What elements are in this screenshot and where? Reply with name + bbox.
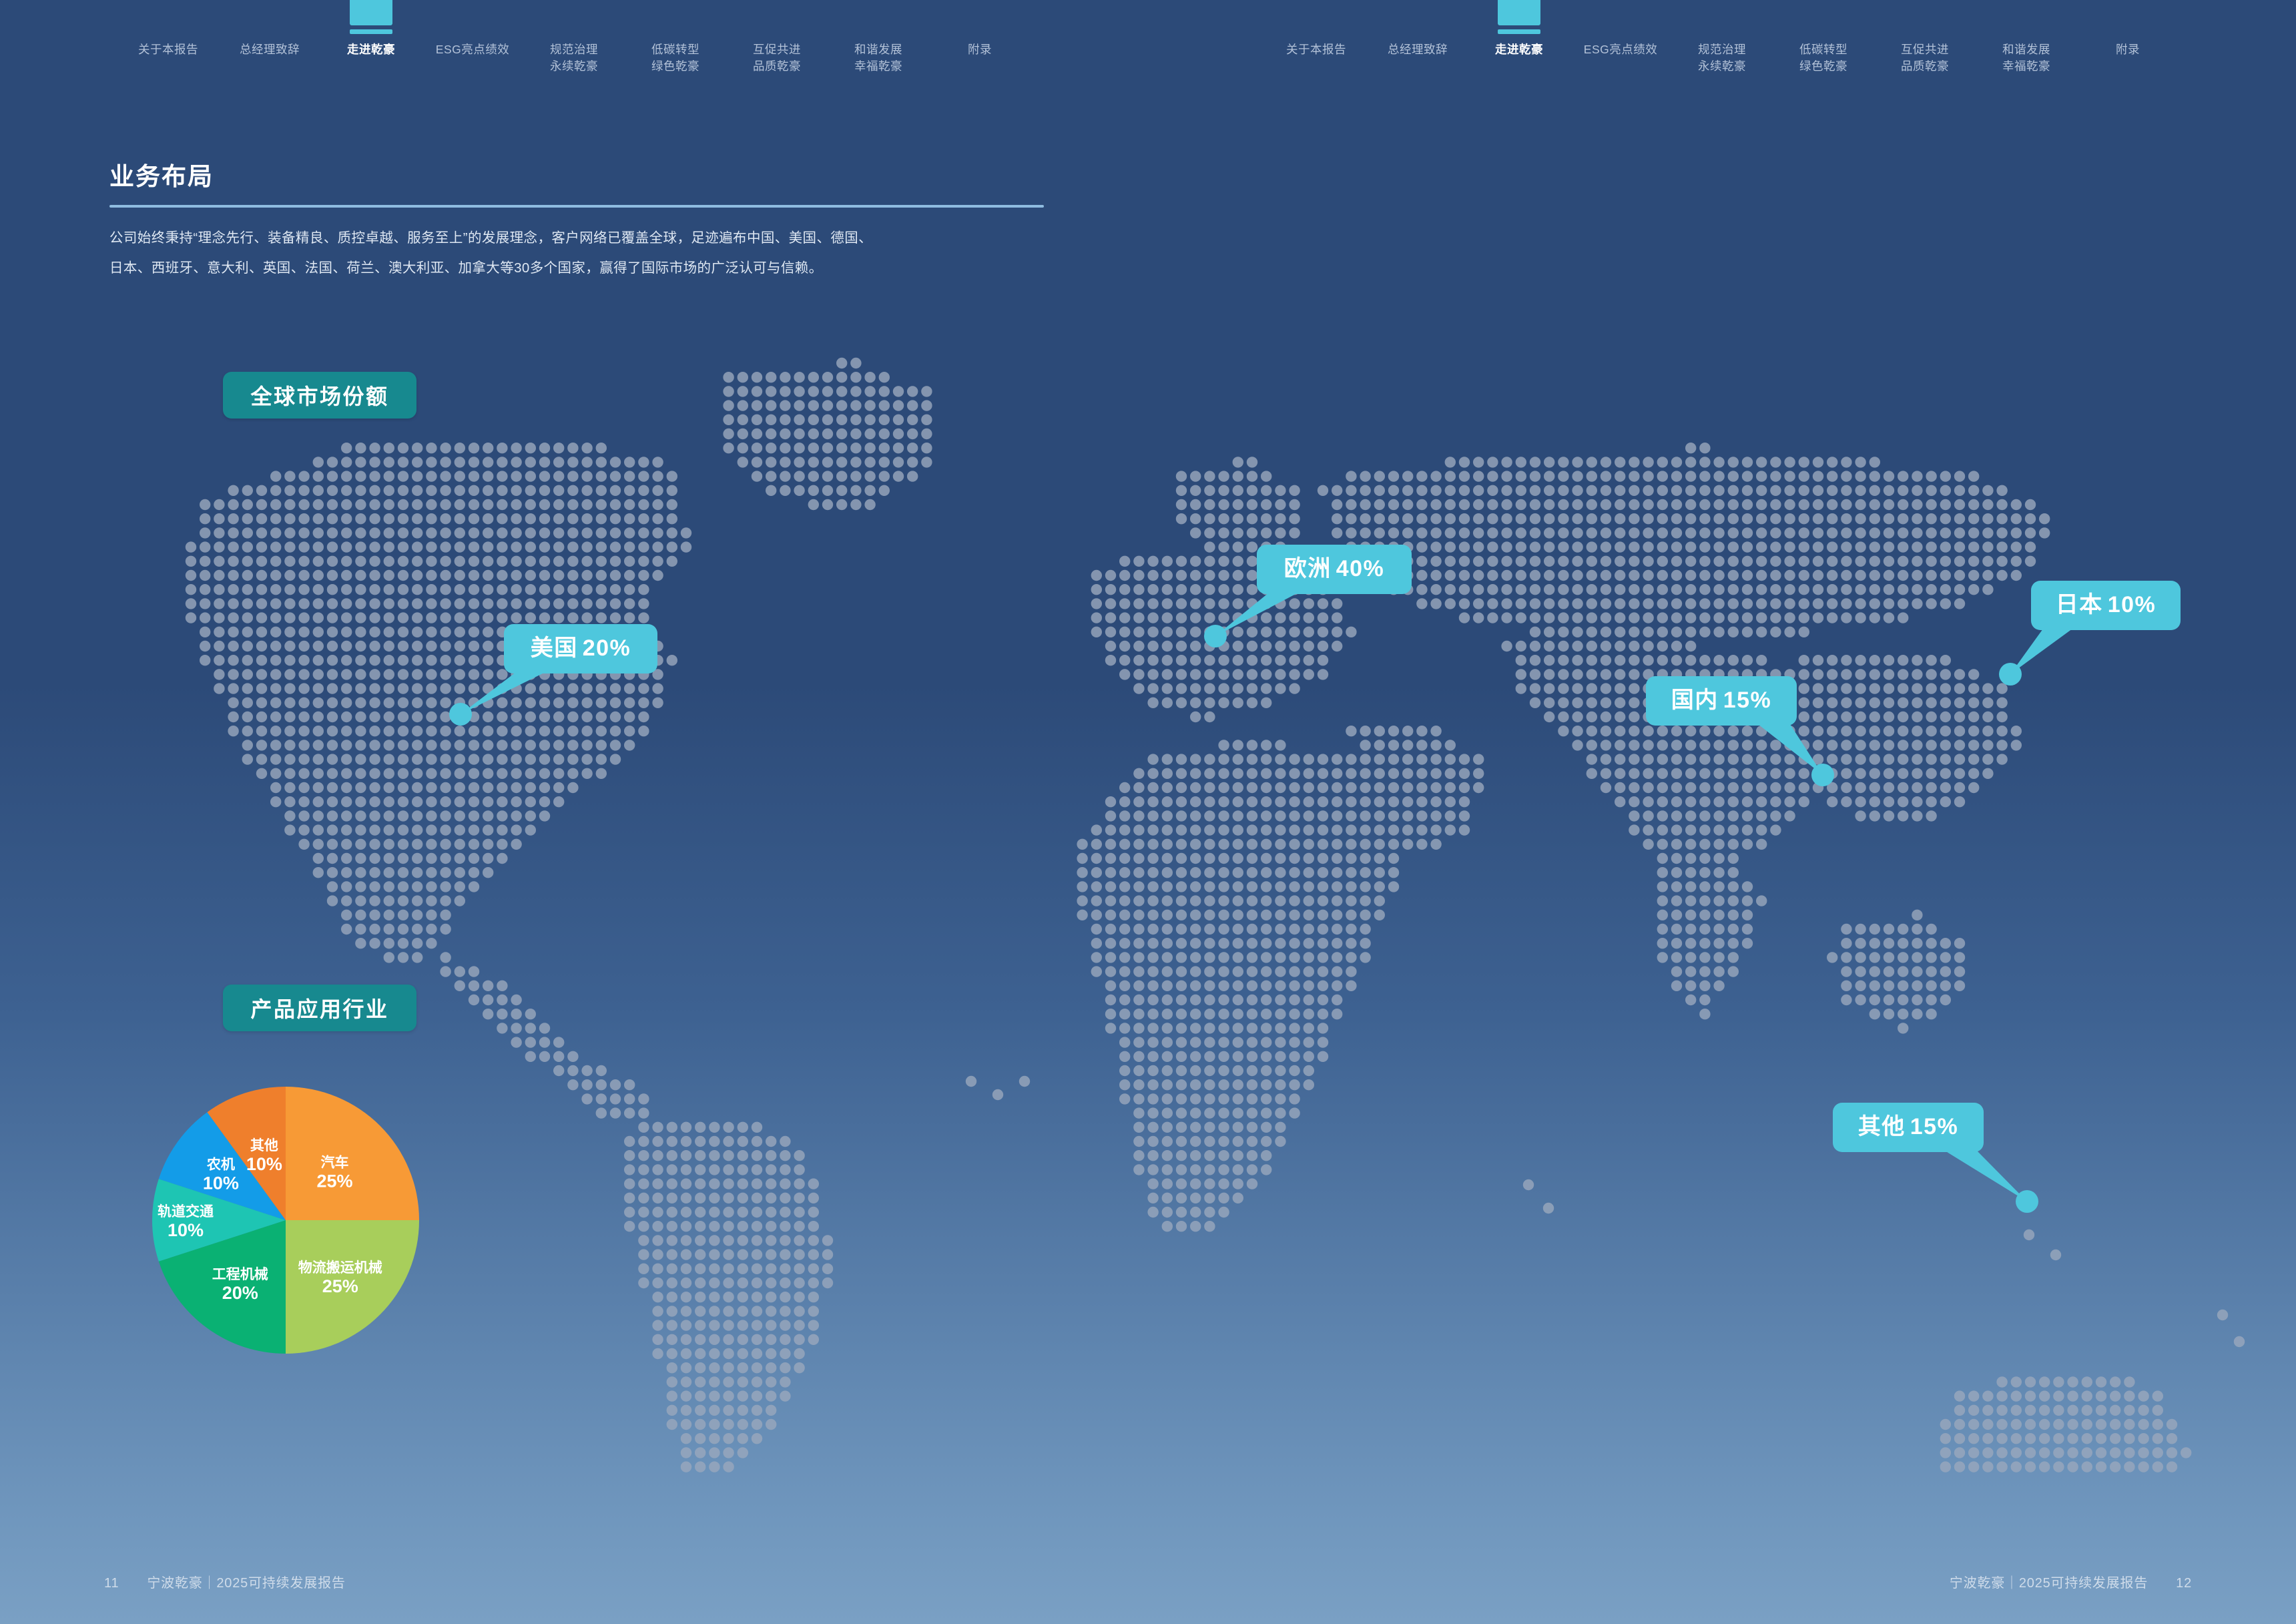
nav-item-label: 和谐发展 [1976, 41, 2077, 58]
callout-region-label: 国内 [1671, 688, 1719, 713]
nav-item-8[interactable]: 附录 [2077, 0, 2179, 58]
callout-region-label: 其他 [1858, 1114, 1906, 1139]
footer-right: 宁波乾豪｜2025可持续发展报告 12 [1950, 1572, 2192, 1591]
nav-item-label: 幸福乾豪 [1976, 58, 2077, 75]
nav-item-8[interactable]: 附录 [929, 0, 1031, 58]
nav-item-4[interactable]: 规范治理永续乾豪 [523, 0, 625, 75]
callout-bubble[interactable]: 美国20% [504, 624, 657, 673]
svg-text:10%: 10% [246, 1154, 282, 1174]
body-line-2: 日本、西班牙、意大利、英国、法国、荷兰、澳大利亚、加拿大等30多个国家，赢得了国… [109, 253, 1057, 283]
svg-text:农机: 农机 [206, 1157, 235, 1173]
map-location-dot[interactable] [449, 703, 472, 726]
top-navigation-right[interactable]: 关于本报告总经理致辞走进乾豪ESG亮点绩效规范治理永续乾豪低碳转型绿色乾豪互促共… [1148, 0, 2296, 107]
nav-item-label: 幸福乾豪 [828, 58, 929, 75]
section-body-text: 公司始终秉持“理念先行、装备精良、质控卓越、服务至上”的发展理念，客户网络已覆盖… [109, 223, 1057, 283]
nav-item-label: 绿色乾豪 [625, 58, 726, 75]
callout-bubble[interactable]: 其他15% [1833, 1103, 1984, 1152]
title-divider [109, 205, 1044, 208]
nav-item-label: 关于本报告 [117, 41, 219, 58]
callout-region-label: 美国 [531, 635, 578, 661]
nav-item-2[interactable]: 走进乾豪 [1468, 0, 1570, 58]
nav-item-label: 规范治理 [1671, 41, 1773, 58]
nav-item-6[interactable]: 互促共进品质乾豪 [1874, 0, 1976, 75]
nav-item-label: 绿色乾豪 [1773, 58, 1874, 75]
nav-item-label: 总经理致辞 [219, 41, 320, 58]
nav-item-1[interactable]: 总经理致辞 [219, 0, 320, 58]
nav-item-label: ESG亮点绩效 [422, 41, 523, 58]
nav-item-label: 关于本报告 [1265, 41, 1367, 58]
badge-product-industry: 产品应用行业 [223, 985, 416, 1031]
nav-item-7[interactable]: 和谐发展幸福乾豪 [828, 0, 929, 75]
nav-item-label: 品质乾豪 [1874, 58, 1976, 75]
svg-text:25%: 25% [322, 1276, 358, 1296]
page-number-left: 11 [104, 1576, 119, 1591]
nav-item-label: 永续乾豪 [1671, 58, 1773, 75]
active-tab-underline [1498, 29, 1540, 34]
svg-text:轨道交通: 轨道交通 [158, 1203, 214, 1220]
callout-region-label: 日本 [2056, 592, 2103, 617]
footer-text-left: 宁波乾豪｜2025可持续发展报告 [147, 1572, 345, 1591]
body-line-1: 公司始终秉持“理念先行、装备精良、质控卓越、服务至上”的发展理念，客户网络已覆盖… [109, 223, 1057, 253]
map-location-dot[interactable] [1204, 625, 1227, 647]
svg-text:10%: 10% [168, 1220, 204, 1240]
callout-value: 20% [583, 635, 631, 661]
nav-item-3[interactable]: ESG亮点绩效 [422, 0, 523, 58]
nav-item-list[interactable]: 关于本报告总经理致辞走进乾豪ESG亮点绩效规范治理永续乾豪低碳转型绿色乾豪互促共… [1148, 0, 2296, 107]
nav-item-label: 低碳转型 [1773, 41, 1874, 58]
svg-text:20%: 20% [222, 1283, 258, 1303]
nav-item-3[interactable]: ESG亮点绩效 [1570, 0, 1671, 58]
product-industry-pie-chart: 汽车25%物流搬运机械25%工程机械20%轨道交通10%农机10%其他10% [147, 1041, 481, 1388]
nav-item-5[interactable]: 低碳转型绿色乾豪 [1773, 0, 1874, 75]
badge-global-market-share: 全球市场份额 [223, 372, 416, 419]
nav-item-6[interactable]: 互促共进品质乾豪 [726, 0, 828, 75]
callout-region-label: 欧洲 [1284, 556, 1332, 581]
nav-item-list[interactable]: 关于本报告总经理致辞走进乾豪ESG亮点绩效规范治理永续乾豪低碳转型绿色乾豪互促共… [0, 0, 1148, 107]
svg-text:工程机械: 工程机械 [212, 1266, 268, 1282]
page-title: 业务布局 [109, 156, 1044, 192]
nav-item-label: 互促共进 [1874, 41, 1976, 58]
callout-value: 15% [1723, 688, 1772, 713]
nav-item-label: 永续乾豪 [523, 58, 625, 75]
map-location-dot[interactable] [1999, 663, 2022, 686]
nav-item-1[interactable]: 总经理致辞 [1367, 0, 1468, 58]
svg-text:汽车: 汽车 [321, 1155, 349, 1171]
svg-text:10%: 10% [203, 1173, 239, 1193]
map-location-dot[interactable] [2016, 1190, 2038, 1213]
nav-item-4[interactable]: 规范治理永续乾豪 [1671, 0, 1773, 75]
svg-text:其他: 其他 [250, 1137, 278, 1153]
nav-item-0[interactable]: 关于本报告 [1265, 0, 1367, 58]
callout-bubble[interactable]: 国内15% [1646, 676, 1797, 726]
page-number-right: 12 [2176, 1576, 2192, 1591]
active-tab-marker [350, 0, 392, 25]
nav-item-label: 走进乾豪 [320, 41, 422, 58]
nav-item-label: 总经理致辞 [1367, 41, 1468, 58]
nav-item-label: 互促共进 [726, 41, 828, 58]
nav-item-label: 品质乾豪 [726, 58, 828, 75]
nav-item-label: 附录 [2077, 41, 2179, 58]
section-heading: 业务布局 [109, 156, 1044, 208]
map-location-dot[interactable] [1811, 764, 1834, 786]
footer-text-right: 宁波乾豪｜2025可持续发展报告 [1950, 1572, 2148, 1591]
callout-value: 15% [1910, 1114, 1959, 1139]
nav-item-label: 附录 [929, 41, 1031, 58]
svg-text:物流搬运机械: 物流搬运机械 [298, 1260, 382, 1276]
nav-item-7[interactable]: 和谐发展幸福乾豪 [1976, 0, 2077, 75]
nav-item-label: 规范治理 [523, 41, 625, 58]
nav-item-label: ESG亮点绩效 [1570, 41, 1671, 58]
callout-bubble[interactable]: 日本10% [2031, 581, 2181, 630]
callout-value: 40% [1336, 556, 1385, 581]
footer-left: 11 宁波乾豪｜2025可持续发展报告 [104, 1572, 346, 1591]
nav-item-2[interactable]: 走进乾豪 [320, 0, 422, 58]
callout-bubble[interactable]: 欧洲40% [1257, 545, 1412, 594]
nav-item-5[interactable]: 低碳转型绿色乾豪 [625, 0, 726, 75]
svg-text:25%: 25% [316, 1171, 352, 1191]
nav-item-0[interactable]: 关于本报告 [117, 0, 219, 58]
nav-item-label: 低碳转型 [625, 41, 726, 58]
active-tab-underline [350, 29, 392, 34]
callout-value: 10% [2108, 592, 2157, 617]
nav-item-label: 和谐发展 [828, 41, 929, 58]
nav-item-label: 走进乾豪 [1468, 41, 1570, 58]
top-navigation-left[interactable]: 关于本报告总经理致辞走进乾豪ESG亮点绩效规范治理永续乾豪低碳转型绿色乾豪互促共… [0, 0, 1148, 107]
active-tab-marker [1498, 0, 1540, 25]
